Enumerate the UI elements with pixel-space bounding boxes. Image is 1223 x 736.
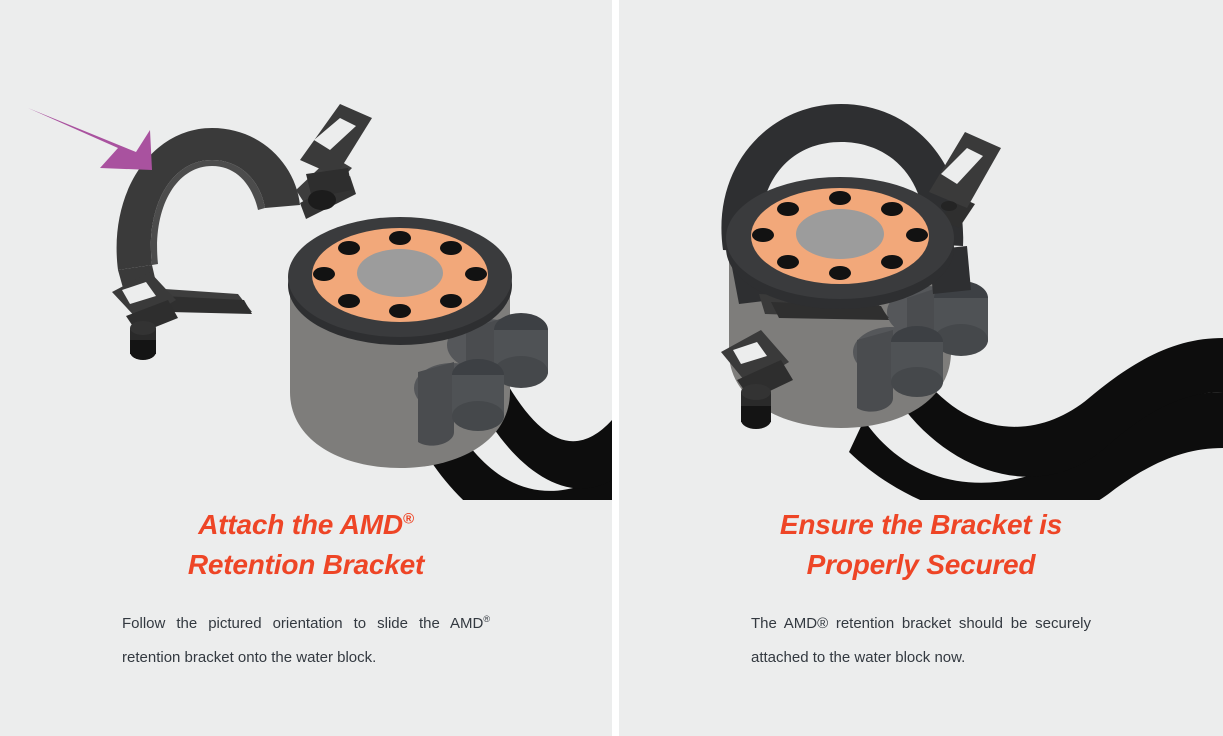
copper-cold-plate [751,188,929,284]
panel-body-text: The AMD® retention bracket should be sec… [751,607,1091,675]
panel-heading: Attach the AMD® Retention Bracket [0,505,612,585]
panel-heading: Ensure the Bracket is Properly Secured [619,505,1223,585]
copper-cold-plate [312,228,488,322]
panel-divider [612,0,619,736]
heading-line-1: Attach the AMD [198,509,403,540]
panel-attach-bracket: Attach the AMD® Retention Bracket Follow… [0,0,612,736]
heading-line-1: Ensure the Bracket is [780,509,1062,540]
heading-line-2: Retention Bracket [188,549,424,580]
illustration-bracket-and-waterblock [0,0,612,500]
installation-guide: Attach the AMD® Retention Bracket Follow… [0,0,1223,736]
center-disc [357,249,443,297]
illustration-bracket-installed [619,0,1223,500]
center-disc [796,209,884,259]
caption-verify-secured: Ensure the Bracket is Properly Secured T… [619,505,1223,675]
panel-verify-secured: Ensure the Bracket is Properly Secured T… [619,0,1223,736]
body-text-part-2: retention bracket onto the water block. [122,649,376,666]
heading-line-2: Properly Secured [807,549,1036,580]
registered-mark-heading: ® [403,511,414,528]
caption-attach-bracket: Attach the AMD® Retention Bracket Follow… [0,505,612,675]
registered-mark-body: ® [483,614,490,624]
panel-body-text: Follow the pictured orientation to slide… [122,607,490,675]
body-text-part-1: Follow the pictured orientation to slide… [122,615,483,632]
